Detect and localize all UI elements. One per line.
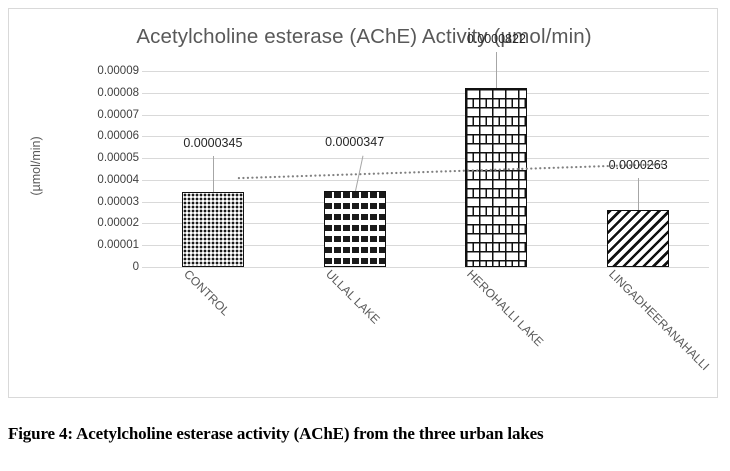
data-label-1: 0.0000345 [183, 136, 242, 150]
y-axis-tick-label: 0.00001 [73, 239, 139, 251]
y-axis-title: (µmol/min) [29, 121, 43, 211]
data-label-leader-1 [213, 156, 214, 192]
figure-caption: Figure 4: Acetylcholine esterase activit… [8, 424, 722, 444]
data-label-3: 0.0000822 [467, 32, 526, 46]
y-axis-tick-label: 0.00003 [73, 196, 139, 208]
y-axis-tick-label: 0.00005 [73, 152, 139, 164]
y-axis-tick-label: 0.00004 [73, 174, 139, 186]
chart-container[interactable]: Acetylcholine esterase (AChE) Activity (… [8, 8, 718, 398]
category-label-3: HEROHALLI LAKE [464, 267, 546, 349]
data-label-2: 0.0000347 [325, 135, 384, 149]
y-axis-tick-label: 0 [73, 261, 139, 273]
data-label-leader-3 [496, 52, 497, 88]
y-axis-tick-label: 0.00002 [73, 217, 139, 229]
y-axis-tick-labels: 00.000010.000020.000030.000040.000050.00… [69, 71, 139, 267]
data-label-leader-4 [638, 178, 639, 210]
data-label-4: 0.0000263 [609, 158, 668, 172]
y-axis-tick-label: 0.00008 [73, 87, 139, 99]
y-axis-tick-label: 0.00007 [73, 109, 139, 121]
category-label-2: ULLAL LAKE [323, 267, 383, 327]
category-label-4: LINGADHEERANAHALLI [606, 267, 712, 373]
y-axis-tick-label: 0.00006 [73, 130, 139, 142]
plot-area: 0.00003450.00003470.00008220.0000263 [142, 71, 709, 267]
chart-title: Acetylcholine esterase (AChE) Activity (… [9, 25, 719, 49]
x-axis-category-labels: CONTROLULLAL LAKEHEROHALLI LAKELINGADHEE… [142, 267, 709, 397]
y-axis-tick-label: 0.00009 [73, 65, 139, 77]
category-label-1: CONTROL [181, 267, 232, 318]
